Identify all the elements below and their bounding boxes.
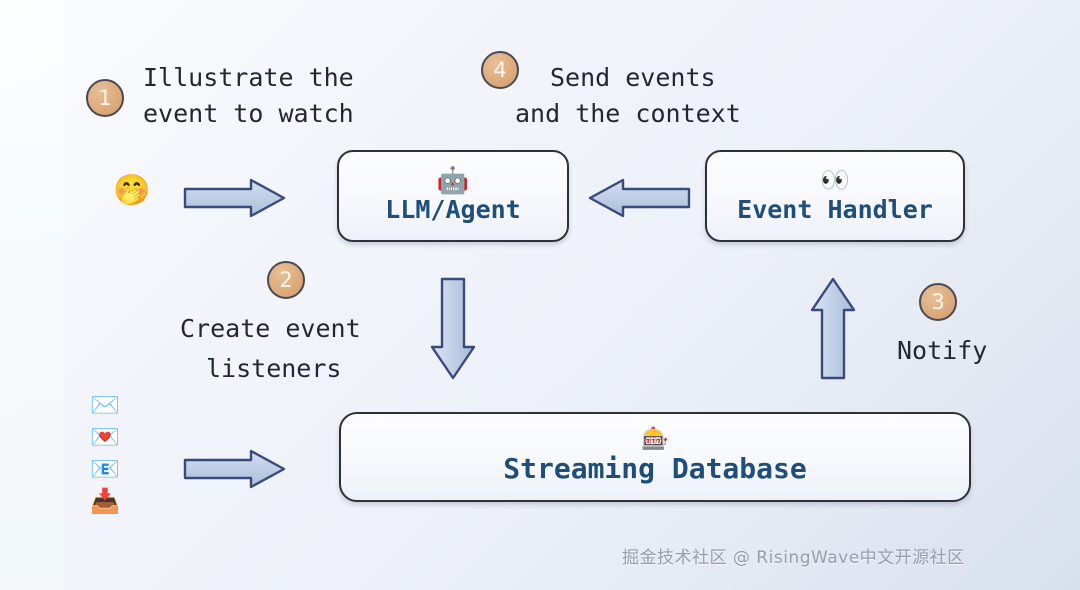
node-llm-agent[interactable]: 🤖 LLM/Agent	[337, 150, 569, 242]
arrow-database-to-handler	[808, 277, 858, 381]
envelope-icon: ✉️	[90, 392, 120, 418]
step-4-caption-line-1: Send events	[550, 60, 716, 96]
step-1-caption-line-2: event to watch	[143, 96, 354, 132]
arrow-handler-to-llm	[588, 177, 692, 219]
step-badge-1: 1	[86, 79, 124, 117]
robot-icon: 🤖	[437, 168, 469, 194]
step-2-caption-line-1: Create event	[180, 311, 361, 347]
hushed-face-icon: 🤭	[113, 176, 150, 206]
step-badge-3: 3	[919, 283, 957, 321]
love-letter-icon: 💌	[90, 424, 120, 450]
mail-stack: ✉️ 💌 📧 📥	[90, 392, 120, 514]
diagram-canvas: 1 Illustrate the event to watch 4 Send e…	[0, 0, 1080, 590]
step-1-caption-line-1: Illustrate the	[143, 60, 354, 96]
arrow-llm-to-database	[428, 277, 478, 381]
arrow-mail-to-database	[183, 448, 287, 490]
watermark: 掘金技术社区 @ RisingWave中文开源社区	[622, 543, 965, 568]
step-3-caption-line-1: Notify	[897, 333, 987, 369]
step-badge-2: 2	[267, 261, 305, 299]
node-llm-agent-label: LLM/Agent	[385, 195, 520, 224]
arrow-user-to-llm	[183, 177, 287, 219]
step-4-caption-line-2: and the context	[515, 96, 741, 132]
email-icon: 📧	[90, 456, 120, 482]
slot-machine-icon: 🎰	[641, 429, 668, 451]
node-event-handler[interactable]: 👀 Event Handler	[705, 150, 965, 242]
step-badge-4: 4	[481, 51, 519, 89]
node-streaming-database-label: Streaming Database	[503, 452, 806, 485]
inbox-tray-icon: 📥	[90, 488, 120, 514]
node-event-handler-label: Event Handler	[737, 195, 933, 224]
node-streaming-database[interactable]: 🎰 Streaming Database	[339, 412, 971, 502]
background-left-strip	[0, 0, 64, 590]
step-2-caption-line-2: listeners	[206, 351, 341, 387]
eyes-icon: 👀	[820, 168, 850, 192]
